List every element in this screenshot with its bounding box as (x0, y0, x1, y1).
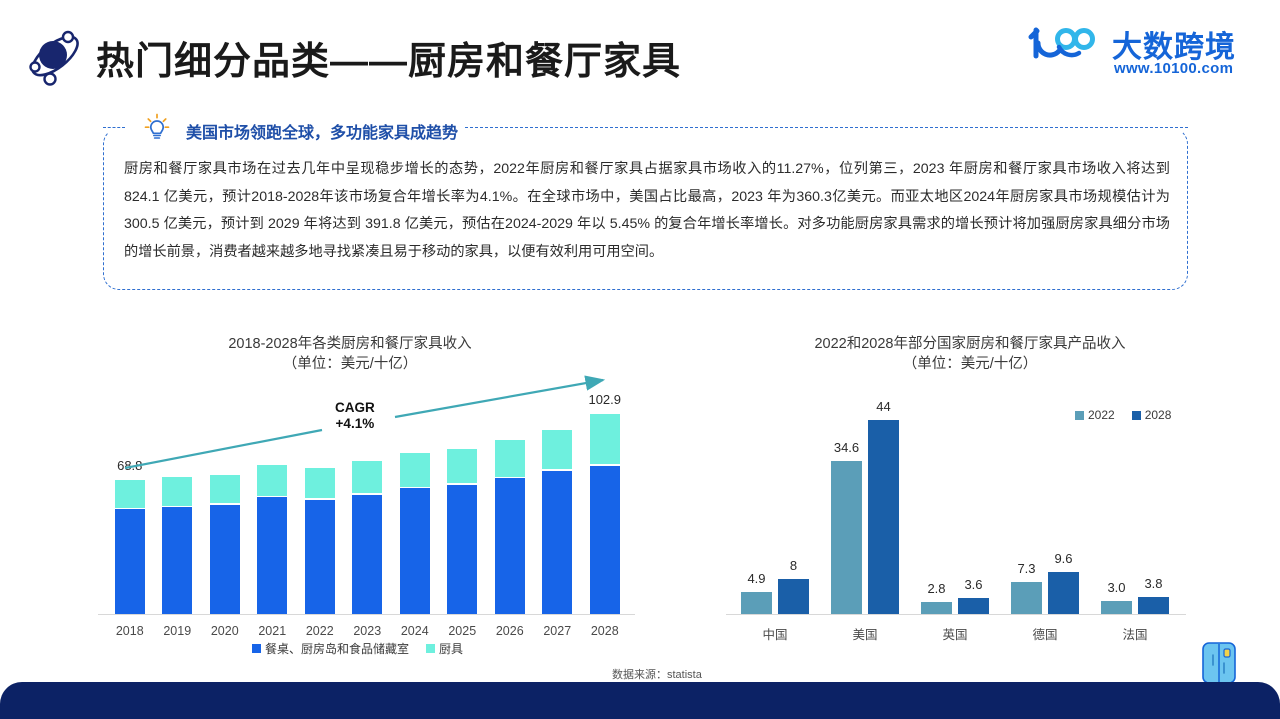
table-row (921, 602, 952, 614)
table-row (495, 440, 525, 614)
legend-swatch (1132, 411, 1141, 420)
table-row (115, 480, 145, 614)
table-row (831, 461, 862, 614)
table-row (1101, 601, 1132, 614)
right-chart-legend: 20222028 (1075, 408, 1183, 422)
bar-segment-top (210, 475, 240, 503)
x-axis-label: 英国 (910, 624, 1000, 643)
table-row (305, 468, 335, 614)
left-chart-title: 2018-2028年各类厨房和餐厅家具收入 （单位：美元/十亿） (140, 334, 560, 374)
legend-item: 2022 (1075, 408, 1115, 422)
atom-planet-icon (22, 26, 88, 88)
bar-segment-top (495, 440, 525, 476)
logo-website-url[interactable]: www.10100.com (1114, 60, 1233, 77)
table-row (257, 465, 287, 614)
bar-value-label: 3.8 (1127, 576, 1180, 591)
bar-segment-top (400, 453, 430, 487)
bar-segment-base (257, 497, 287, 614)
legend-label: 厨具 (439, 640, 463, 657)
slide-header: 热门细分品类——厨房和餐厅家具 大数跨境 www.10100.com (0, 0, 1280, 100)
bar-segment-top (590, 414, 620, 465)
legend-item: 2028 (1132, 408, 1172, 422)
legend-label: 餐桌、厨房岛和食品储藏室 (265, 640, 409, 657)
table-row (447, 449, 477, 614)
legend-item: 厨具 (426, 640, 463, 657)
bar-segment-base (115, 509, 145, 614)
bar-segment-base (305, 500, 335, 614)
page-title: 热门细分品类——厨房和餐厅家具 (96, 30, 681, 85)
bar-segment-top (115, 480, 145, 508)
x-axis-label: 2020 (201, 624, 249, 638)
x-axis-label: 2027 (534, 624, 582, 638)
x-axis-label: 2021 (249, 624, 297, 638)
table-row (1138, 597, 1169, 614)
table-row (400, 453, 430, 614)
cagr-annotation-label: CAGR +4.1% (335, 400, 375, 432)
x-axis-label: 2019 (154, 624, 202, 638)
bar-segment-base (447, 485, 477, 614)
x-axis-label: 2022 (296, 624, 344, 638)
x-axis-label: 美国 (820, 624, 910, 643)
x-axis-label: 2024 (391, 624, 439, 638)
table-row (162, 477, 192, 614)
lightbulb-icon (140, 112, 174, 146)
table-row (590, 414, 620, 614)
10100-logo-mark-icon (1028, 26, 1104, 60)
callout-border-dash-left (103, 127, 125, 128)
bar-segment-base (210, 505, 240, 614)
bar-segment-top (352, 461, 382, 493)
bar-value-label: 34.6 (820, 440, 873, 455)
footer-bar (0, 682, 1280, 719)
table-row (741, 592, 772, 614)
table-row (210, 475, 240, 614)
data-source-note: 数据来源：statista (612, 666, 702, 682)
left-chart-legend: 餐桌、厨房岛和食品储藏室厨具 (252, 640, 475, 657)
bar-segment-base (352, 495, 382, 614)
callout-border-dash-right (435, 127, 1188, 128)
bar-segment-top (257, 465, 287, 496)
callout-title: 美国市场领跑全球，多功能家具成趋势 (180, 119, 464, 143)
bar-value-label: 44 (857, 399, 910, 414)
table-row (958, 598, 989, 614)
x-axis-label: 法国 (1090, 624, 1180, 643)
table-row (1048, 572, 1079, 614)
bar-segment-top (542, 430, 572, 469)
callout-body-text: 厨房和餐厅家具市场在过去几年中呈现稳步增长的态势，2022年厨房和餐厅家具占据家… (124, 156, 1170, 266)
bar-value-label: 9.6 (1037, 551, 1090, 566)
bar-segment-base (590, 466, 620, 614)
bar-segment-top (162, 477, 192, 505)
right-chart-axis (726, 614, 1186, 615)
legend-label: 2022 (1088, 408, 1115, 422)
left-chart-axis (98, 614, 635, 615)
bar-segment-base (542, 471, 572, 614)
table-row (778, 579, 809, 614)
bar-segment-base (495, 478, 525, 614)
table-row (542, 430, 572, 614)
slide-root: 热门细分品类——厨房和餐厅家具 大数跨境 www.10100.com 美国市场领… (0, 0, 1280, 719)
x-axis-label: 2025 (439, 624, 487, 638)
company-logo[interactable]: 大数跨境 www.10100.com (1028, 22, 1250, 84)
table-row (352, 461, 382, 614)
legend-swatch (252, 644, 261, 653)
legend-item: 餐桌、厨房岛和食品储藏室 (252, 640, 409, 657)
bar-value-label: 4.9 (730, 571, 783, 586)
legend-swatch (1075, 411, 1084, 420)
bar-total-label: 102.9 (573, 392, 637, 407)
legend-label: 2028 (1145, 408, 1172, 422)
x-axis-label: 德国 (1000, 624, 1090, 643)
bar-value-label: 3.6 (947, 577, 1000, 592)
x-axis-label: 2018 (106, 624, 154, 638)
bar-segment-top (447, 449, 477, 484)
bar-segment-base (162, 507, 192, 614)
bar-value-label: 8 (767, 558, 820, 573)
table-row (1011, 582, 1042, 614)
x-axis-label: 2023 (344, 624, 392, 638)
right-chart-title: 2022和2028年部分国家厨房和餐厅家具产品收入 （单位：美元/十亿） (760, 334, 1180, 374)
bar-total-label: 68.8 (98, 458, 162, 473)
bar-segment-base (400, 488, 430, 614)
table-row (868, 420, 899, 614)
x-axis-label: 2026 (486, 624, 534, 638)
x-axis-label: 中国 (730, 624, 820, 643)
legend-swatch (426, 644, 435, 653)
bar-segment-top (305, 468, 335, 498)
x-axis-label: 2028 (581, 624, 629, 638)
